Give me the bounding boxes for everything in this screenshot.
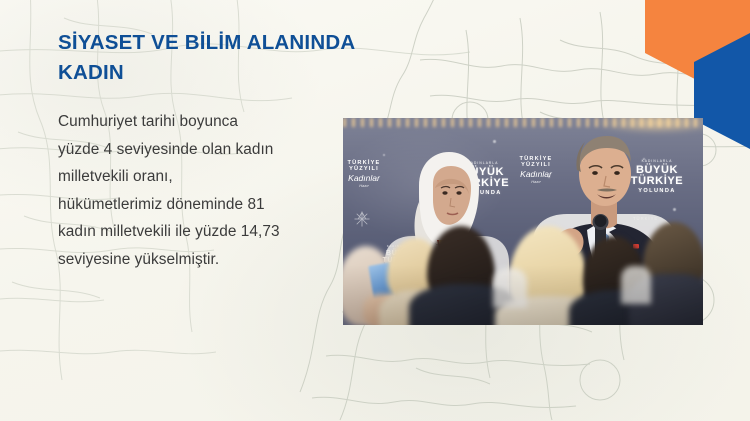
body-line-5: kadın milletvekili ile yüzde 14,73	[58, 218, 350, 246]
body-line-4: hükümetlerimiz döneminde 81	[58, 191, 350, 219]
body-line-6: seviyesine yükselmiştir.	[58, 246, 350, 274]
photo-bottom-shade	[343, 265, 703, 325]
body-paragraph: Cumhuriyet tarihi boyunca yüzde 4 seviye…	[58, 108, 350, 273]
page-title: SİYASET VE BİLİM ALANINDA KADIN	[58, 28, 388, 88]
star-icon	[353, 210, 371, 228]
body-line-1: Cumhuriyet tarihi boyunca	[58, 108, 350, 136]
page-title-line-1: SİYASET VE BİLİM ALANINDA	[58, 28, 388, 58]
event-photo: TÜRKİYE YÜZYILI Kadınlar Hazır KADINLARL…	[343, 118, 703, 325]
slide-canvas: SİYASET VE BİLİM ALANINDA KADIN Cumhuriy…	[0, 0, 750, 421]
page-title-line-2: KADIN	[58, 58, 388, 88]
body-line-3: milletvekili oranı,	[58, 163, 350, 191]
body-line-2: yüzde 4 seviyesinde olan kadın	[58, 136, 350, 164]
